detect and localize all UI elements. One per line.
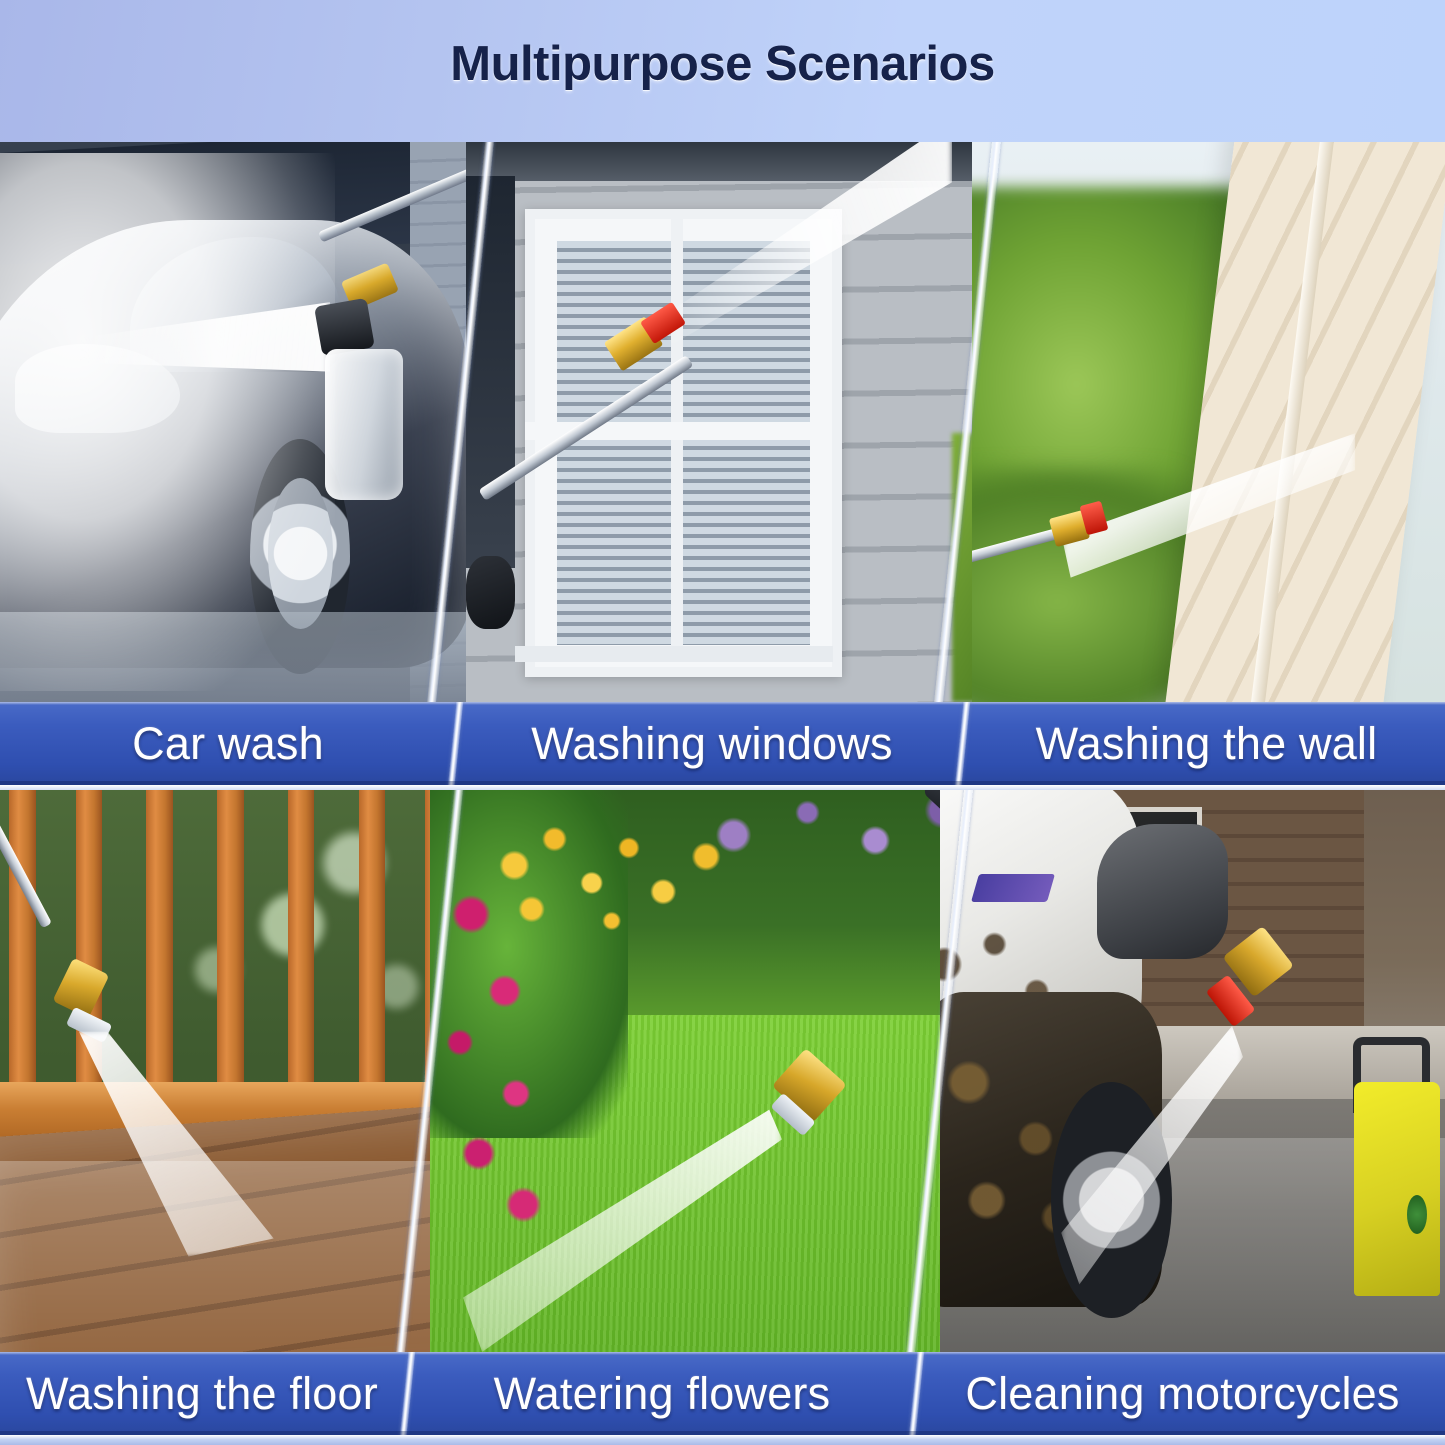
bottom-seam [0, 1435, 1445, 1445]
scenario-label-watering-flowers: Watering flowers [412, 1352, 912, 1435]
scenario-photo-cleaning-motorcycles[interactable] [940, 790, 1445, 1352]
scenario-label-car-wash: Car wash [0, 702, 456, 785]
scenario-label-washing-the-floor: Washing the floor [0, 1352, 404, 1435]
gloved-hand-icon [466, 556, 515, 629]
karcher-pressure-washer-icon [1354, 1082, 1440, 1296]
foam-cannon-body-icon [314, 297, 374, 356]
label-bar-row-1: Car wash Washing windows Washing the wal… [0, 702, 1445, 785]
scenario-label-washing-windows: Washing windows [462, 702, 962, 785]
scenario-label-cleaning-motorcycles: Cleaning motorcycles [920, 1352, 1445, 1435]
scenario-row-2 [0, 790, 1445, 1352]
scenario-photo-washing-the-wall[interactable] [972, 142, 1445, 702]
header-banner: Multipurpose Scenarios [0, 0, 1445, 142]
scenario-photo-car-wash[interactable] [0, 142, 500, 702]
scenario-label-washing-the-wall: Washing the wall [968, 702, 1445, 785]
scenario-photo-washing-the-floor[interactable] [0, 790, 472, 1352]
page-title: Multipurpose Scenarios [0, 36, 1445, 92]
scenario-row-1 [0, 142, 1445, 702]
scenario-photo-washing-windows[interactable] [466, 142, 1006, 702]
foam-bottle-icon [325, 349, 403, 500]
scenario-photo-watering-flowers[interactable] [430, 790, 980, 1352]
label-bar-row-2: Washing the floor Watering flowers Clean… [0, 1352, 1445, 1435]
tiger-logo-icon [971, 874, 1055, 902]
product-feature-image: Multipurpose Scenarios [0, 0, 1445, 1445]
